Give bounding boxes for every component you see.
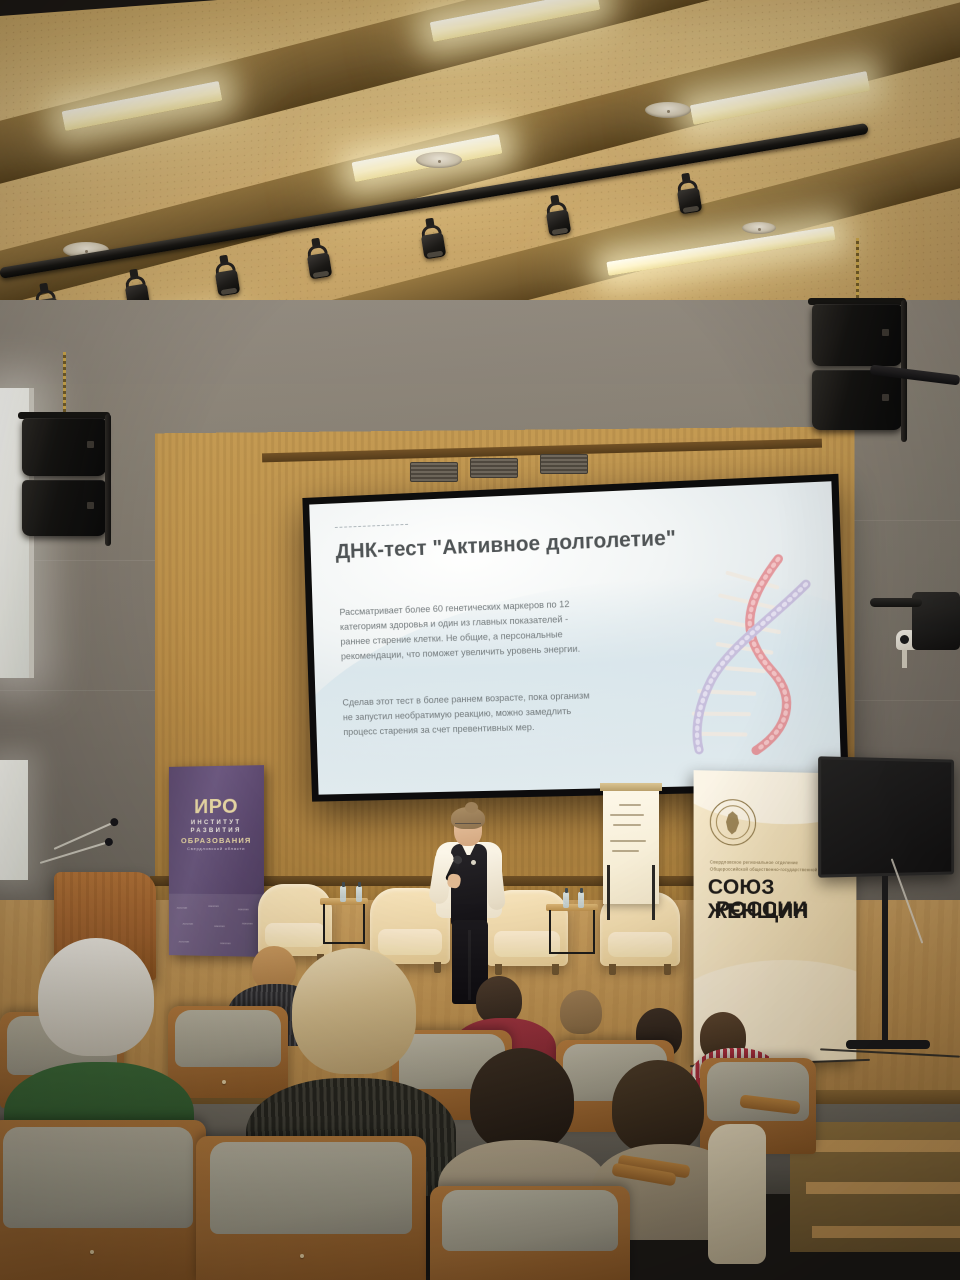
auditorium-seat <box>168 1006 288 1098</box>
audience-head <box>38 938 154 1056</box>
coat-on-seat <box>708 1124 766 1264</box>
air-vent <box>470 458 518 478</box>
flipchart-handwriting <box>613 824 641 826</box>
water-bottle <box>563 892 569 908</box>
blond-hair <box>292 948 416 1074</box>
partner-logo: логотип <box>208 904 219 908</box>
seat-cushion <box>3 1127 193 1229</box>
dark-hair <box>470 1048 574 1152</box>
flat-panel-monitor <box>818 756 954 877</box>
banner-title-line-2: РОССИИ <box>716 898 808 922</box>
flipchart-leg <box>607 865 610 920</box>
presenter-glasses <box>455 823 481 828</box>
armchair-seat <box>265 923 324 947</box>
wall-seam <box>850 700 960 701</box>
ptz-camera-mount <box>902 650 907 668</box>
hair <box>560 990 602 1034</box>
presenter <box>424 812 516 1002</box>
auditorium-seat <box>0 1120 206 1280</box>
seat-cushion <box>210 1142 412 1234</box>
partner-logo: логотип <box>177 906 188 910</box>
slide-title: ДНК-тест "Активное долголетие" <box>335 527 676 565</box>
seat-cushion <box>442 1190 618 1251</box>
stage-spotlight <box>304 243 335 281</box>
presenter-hair-bun <box>465 802 478 813</box>
stage-spotlight <box>543 200 574 238</box>
audience-head <box>470 1048 574 1152</box>
slide-dash-accent <box>335 524 408 528</box>
hair <box>476 976 522 1024</box>
conference-hall-photo: ДНК-тест "Активное долголетие" Рассматри… <box>0 0 960 1280</box>
speaker-cabinet <box>22 480 106 536</box>
stage-spotlight <box>212 260 243 298</box>
line-array-speaker-left <box>22 412 106 544</box>
stage-spotlight <box>418 223 449 261</box>
ceiling-speaker-icon <box>742 222 776 234</box>
iro-logo: ИРО <box>169 795 264 819</box>
stage-spotlight <box>674 178 705 216</box>
slide-paragraph-2: Сделав этот тест в более раннем возрасте… <box>342 688 596 740</box>
ceiling-speaker-icon <box>645 102 691 118</box>
seat-cushion <box>175 1010 281 1067</box>
monitor-stand <box>882 876 888 1046</box>
audience-head <box>292 948 416 1074</box>
partner-logo: логотип <box>242 921 253 925</box>
side-table <box>546 904 598 954</box>
table-frame <box>549 910 595 954</box>
hall-window <box>0 760 28 880</box>
banner-iro: ИРО ИНСТИТУТ РАЗВИТИЯ ОБРАЗОВАНИЯ Свердл… <box>169 765 264 957</box>
dna-helix-icon <box>670 539 820 761</box>
partner-logo: логотип <box>179 939 190 943</box>
iro-partner-strip: логотип логотип логотип логотип логотип … <box>169 894 264 957</box>
camera-boom-arm <box>870 598 922 607</box>
speaker-cabinet <box>22 418 106 476</box>
water-bottle <box>356 886 362 902</box>
seat-stud <box>222 1080 226 1084</box>
auditorium-seat <box>430 1186 630 1280</box>
flipchart-handwriting <box>610 840 646 842</box>
audience-head <box>560 990 602 1034</box>
grey-hair <box>38 938 154 1056</box>
iro-line-1: ИНСТИТУТ <box>169 820 264 827</box>
step-tread <box>806 1182 960 1194</box>
seat-stud <box>300 1254 304 1258</box>
speaker-rail <box>105 414 111 546</box>
side-table <box>320 898 368 944</box>
partner-logo: логотип <box>220 941 231 945</box>
speaker-cabinet <box>812 370 902 430</box>
flipchart-leg <box>652 865 655 920</box>
speaker-chain <box>856 238 859 300</box>
banner-subtitle-1: Свердловское региональное отделение <box>710 859 798 865</box>
partner-logo: логотип <box>183 922 194 926</box>
presenter-badge <box>471 860 476 865</box>
iro-line-2: РАЗВИТИЯ <box>169 828 264 835</box>
flipchart-handwriting <box>610 814 645 816</box>
air-vent <box>410 462 458 482</box>
iro-line-3: ОБРАЗОВАНИЯ <box>169 836 264 845</box>
flipchart-handwriting <box>619 804 641 806</box>
water-bottle <box>578 892 584 908</box>
step-tread <box>800 1140 960 1152</box>
speaker-cabinet <box>812 304 902 366</box>
dark-hair <box>612 1060 704 1154</box>
auditorium-seat <box>196 1136 426 1280</box>
ceiling-speaker-icon <box>416 152 462 168</box>
iro-line-4: Свердловской области <box>169 846 264 851</box>
seat-stud <box>90 1250 94 1254</box>
air-vent <box>540 454 588 474</box>
table-frame <box>323 904 365 944</box>
partner-logo: логотип <box>214 924 225 928</box>
audience-head <box>476 976 522 1024</box>
step-tread <box>812 1226 960 1238</box>
video-camera-icon <box>912 592 960 650</box>
union-emblem-icon <box>710 799 756 846</box>
presentation-slide: ДНК-тест "Активное долголетие" Рассматри… <box>309 481 841 794</box>
projection-screen: ДНК-тест "Активное долголетие" Рассматри… <box>302 474 849 802</box>
flipchart-clip <box>600 783 662 791</box>
flipchart-handwriting <box>612 850 639 852</box>
partner-logo: логотип <box>238 907 249 911</box>
wall-seam <box>850 520 960 521</box>
flipchart <box>603 788 659 920</box>
monitor-base <box>846 1040 930 1049</box>
armchair-leg <box>552 964 559 975</box>
speaker-chain <box>63 352 66 414</box>
water-bottle <box>340 886 346 902</box>
slide-paragraph-1: Рассматривает более 60 генетических марк… <box>339 596 593 664</box>
audience-head <box>612 1060 704 1154</box>
